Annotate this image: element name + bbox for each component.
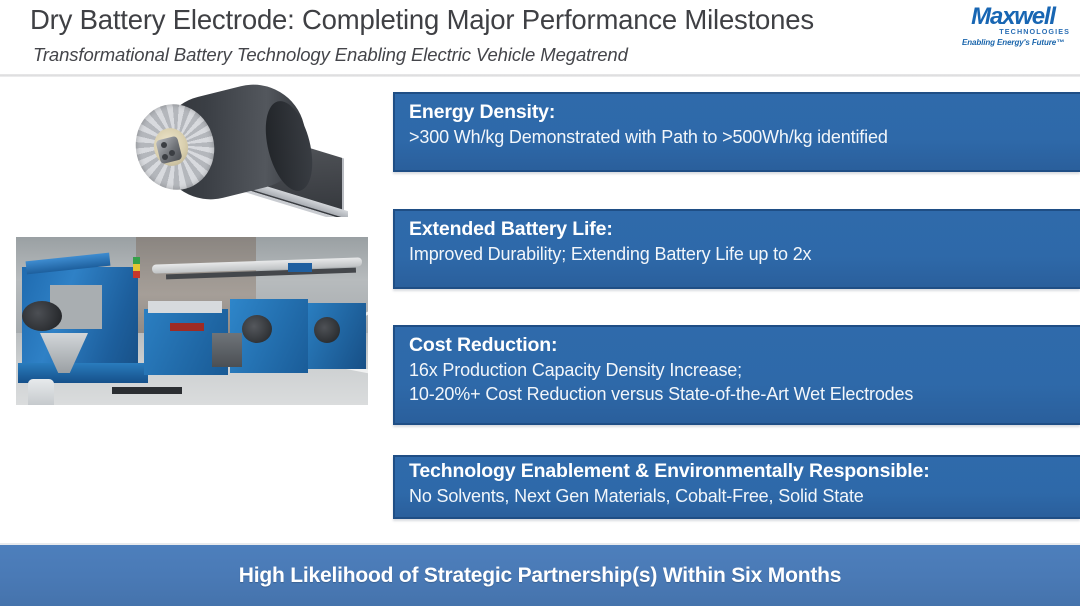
callout-block-energy-density: Energy Density: >300 Wh/kg Demonstrated … [393,92,1080,172]
spool-bolt-icon [169,150,175,156]
callout-block-extended-battery-life: Extended Battery Life: Improved Durabili… [393,209,1080,289]
slide-canvas: Dry Battery Electrode: Completing Major … [0,0,1080,606]
electrode-roll-photo [118,82,388,217]
header-divider [0,74,1080,77]
callout-block-content: Extended Battery Life: Improved Durabili… [395,211,1080,273]
footer-banner: High Likelihood of Strategic Partnership… [0,543,1080,606]
wall-sign [288,263,312,272]
logo-wordmark: Maxwell [954,5,1072,29]
logo-tagline: Enabling Energy's Future™ [954,38,1072,48]
callout-line: 16x Production Capacity Density Increase… [409,358,1080,382]
conveyor-belt [112,387,182,394]
control-cabinet [212,333,242,367]
callout-heading: Cost Reduction: [409,333,1080,358]
footer-banner-text: High Likelihood of Strategic Partnership… [239,564,841,588]
callout-line: 10-20%+ Cost Reduction versus State-of-t… [409,382,1080,406]
page-title: Dry Battery Electrode: Completing Major … [30,4,814,36]
callout-block-content: Cost Reduction: 16x Production Capacity … [395,327,1080,413]
page-subtitle: Transformational Battery Technology Enab… [33,44,628,66]
callout-heading: Technology Enablement & Environmentally … [409,459,1080,484]
callout-heading: Extended Battery Life: [409,217,1080,242]
calender-roller [22,301,62,331]
factory-line-photo [16,237,368,405]
rewinder-roller [314,317,340,343]
press-machine-panel [170,323,204,331]
winder-roller [242,315,272,343]
callout-block-content: Energy Density: >300 Wh/kg Demonstrated … [395,94,1080,156]
callout-line: Improved Durability; Extending Battery L… [409,242,1080,266]
spool-bolt-icon [162,154,168,160]
logo-sub-wordmark: TECHNOLOGIES [954,27,1072,36]
callout-heading: Energy Density: [409,100,1080,125]
spool-bolt-icon [161,142,167,148]
callout-block-technology-enablement: Technology Enablement & Environmentally … [393,455,1080,519]
callout-line: >300 Wh/kg Demonstrated with Path to >50… [409,125,1080,149]
maxwell-logo: Maxwell TECHNOLOGIES Enabling Energy's F… [954,5,1072,51]
callout-line: No Solvents, Next Gen Materials, Cobalt-… [409,484,1080,508]
status-light-yellow-icon [133,264,140,271]
callout-block-content: Technology Enablement & Environmentally … [395,457,1080,511]
press-machine-top [148,301,222,313]
callout-block-cost-reduction: Cost Reduction: 16x Production Capacity … [393,325,1080,425]
operator-station [28,379,54,405]
status-light-green-icon [133,257,140,264]
slide-header: Dry Battery Electrode: Completing Major … [0,0,1080,76]
status-light-red-icon [133,271,140,278]
